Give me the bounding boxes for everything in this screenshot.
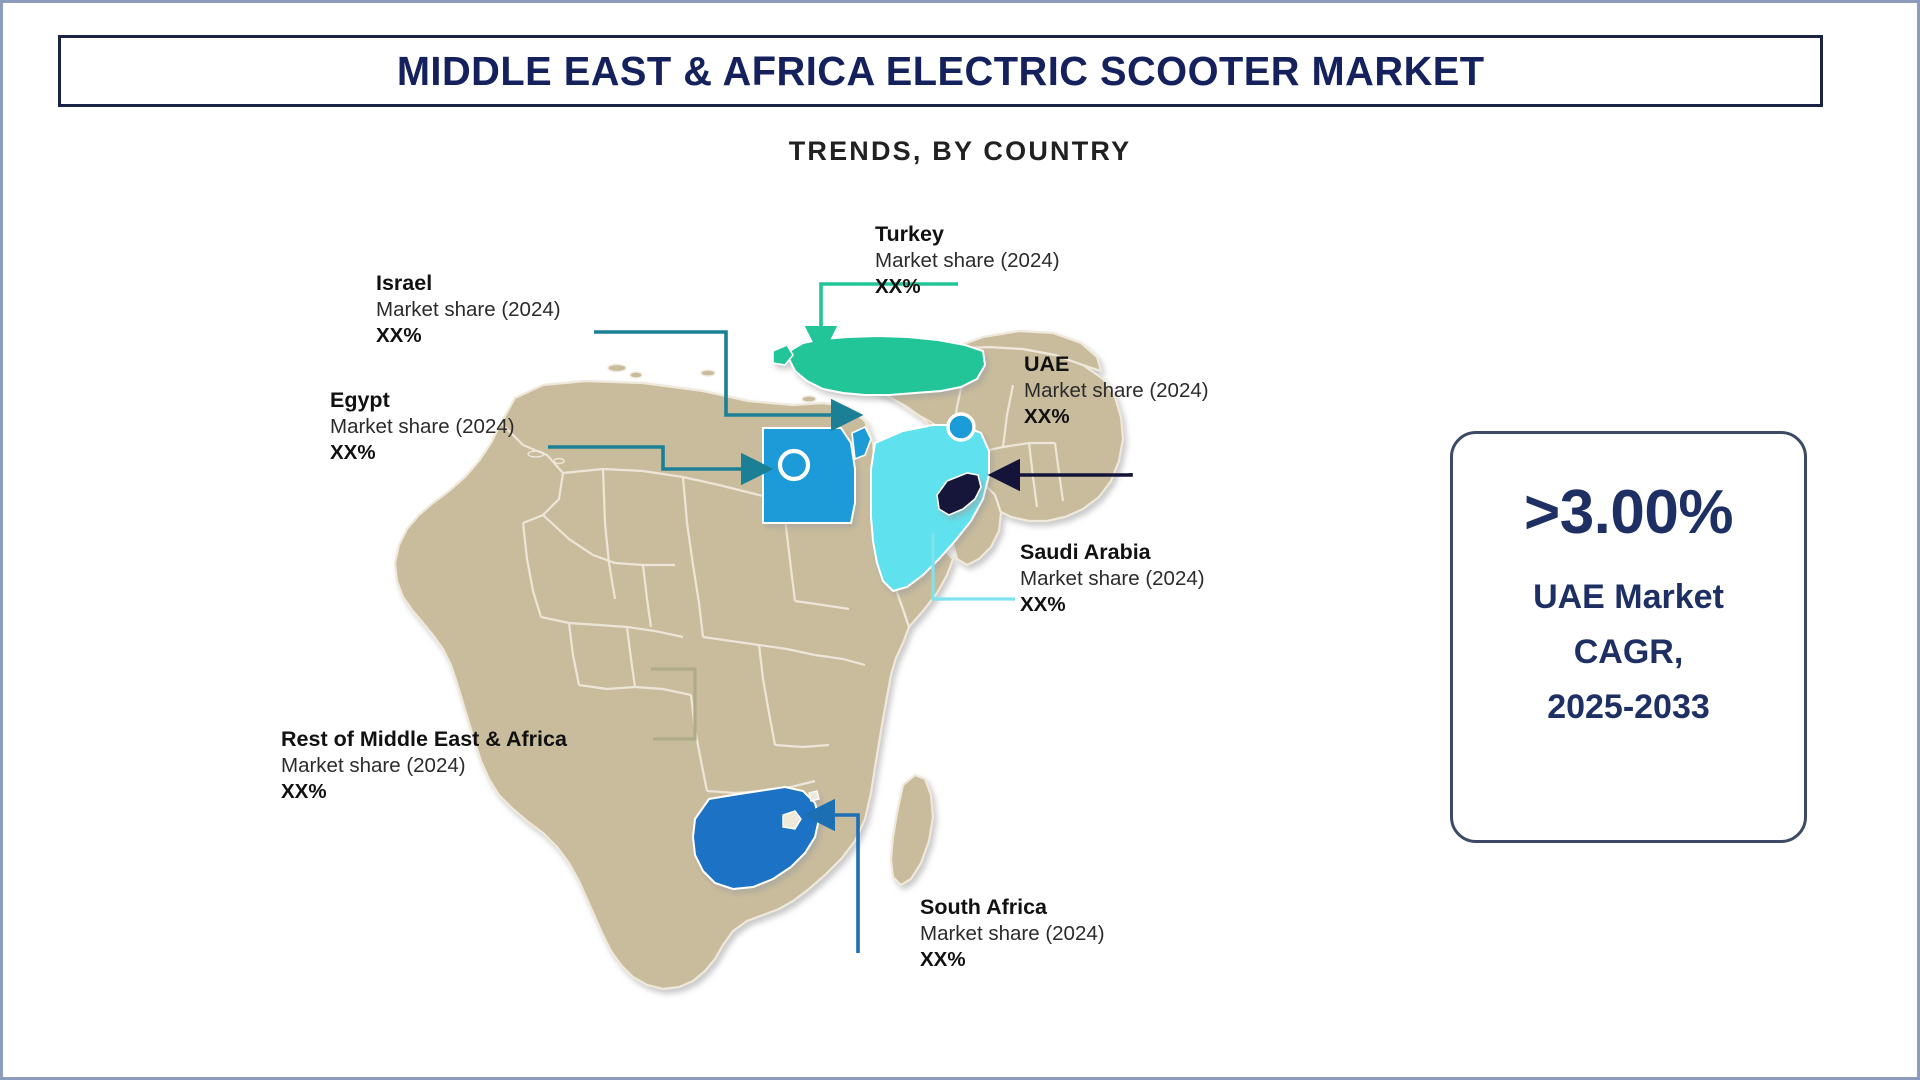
horn-of-africa [889,551,953,627]
callout-south-africa: South Africa Market share (2024) XX% [920,894,1105,973]
connector-rest-mea [651,669,695,739]
egypt-highlight [763,428,855,523]
island-speck-8 [898,346,908,351]
connector-uae [993,473,1131,475]
connector-south-africa [808,815,858,953]
island-speck-3 [701,370,715,376]
callout-turkey-metric: Market share (2024) [875,248,1060,274]
connector-saudi [933,533,1015,599]
cagr-label-line1: UAE Market [1533,570,1724,625]
south-africa-highlight [693,787,819,889]
country-border-lines [501,379,1063,855]
callout-uae-country: UAE [1024,351,1209,378]
callout-rest-of-mea-metric: Market share (2024) [281,753,567,779]
callout-israel-value: XX% [376,323,561,349]
eswatini-hole [809,791,819,801]
africa-landmass [395,381,909,989]
madagascar [891,775,933,885]
callout-rest-of-mea-value: XX% [281,779,567,805]
callout-egypt-country: Egypt [330,387,515,414]
egypt-marker-ring [780,451,808,479]
infographic-page: MIDDLE EAST & AFRICA ELECTRIC SCOOTER MA… [0,0,1920,1080]
mediterranean-islands [528,345,908,464]
island-speck-4 [819,379,839,387]
callout-south-africa-country: South Africa [920,894,1105,921]
connector-egypt [548,447,768,469]
callout-south-africa-value: XX% [920,947,1105,973]
cagr-label-line2: CAGR, [1574,625,1684,680]
oman-landmass [953,473,1001,565]
page-subtitle: TRENDS, BY COUNTRY [3,136,1917,167]
island-speck-10 [554,459,564,464]
island-speck-6 [835,345,847,351]
callout-rest-of-mea-country: Rest of Middle East & Africa [281,726,567,753]
callout-turkey: Turkey Market share (2024) XX% [875,221,1060,300]
cagr-label-line3: 2025-2033 [1547,680,1710,735]
callout-israel: Israel Market share (2024) XX% [376,270,561,349]
island-speck-2 [630,372,642,378]
callout-turkey-value: XX% [875,274,1060,300]
callout-uae-value: XX% [1024,404,1209,430]
cagr-value: >3.00% [1524,482,1733,544]
callout-saudi-arabia-country: Saudi Arabia [1020,539,1205,566]
callout-saudi-arabia: Saudi Arabia Market share (2024) XX% [1020,539,1205,618]
cagr-highlight-box: >3.00% UAE Market CAGR, 2025-2033 [1450,431,1807,843]
callout-israel-metric: Market share (2024) [376,297,561,323]
page-title: MIDDLE EAST & AFRICA ELECTRIC SCOOTER MA… [397,48,1485,95]
island-speck-5 [802,396,816,402]
callout-saudi-arabia-value: XX% [1020,592,1205,618]
callout-saudi-arabia-metric: Market share (2024) [1020,566,1205,592]
lesotho-hole [783,811,801,829]
island-speck-7 [868,352,882,358]
callout-rest-of-mea: Rest of Middle East & Africa Market shar… [281,726,567,805]
callout-south-africa-metric: Market share (2024) [920,921,1105,947]
connector-israel [594,332,858,415]
sinai-sliver [852,427,871,459]
island-speck-9 [528,451,544,457]
turkey-highlight [773,336,985,395]
callout-israel-country: Israel [376,270,561,297]
uae-highlight [937,473,981,515]
title-banner: MIDDLE EAST & AFRICA ELECTRIC SCOOTER MA… [58,35,1823,107]
island-speck-1 [608,365,626,372]
uae-marker-dot [948,414,974,440]
callout-egypt-value: XX% [330,440,515,466]
callout-turkey-country: Turkey [875,221,1060,248]
callout-egypt: Egypt Market share (2024) XX% [330,387,515,466]
callout-uae-metric: Market share (2024) [1024,378,1209,404]
callout-egypt-metric: Market share (2024) [330,414,515,440]
saudi-arabia-highlight [871,425,989,591]
callout-uae: UAE Market share (2024) XX% [1024,351,1209,430]
